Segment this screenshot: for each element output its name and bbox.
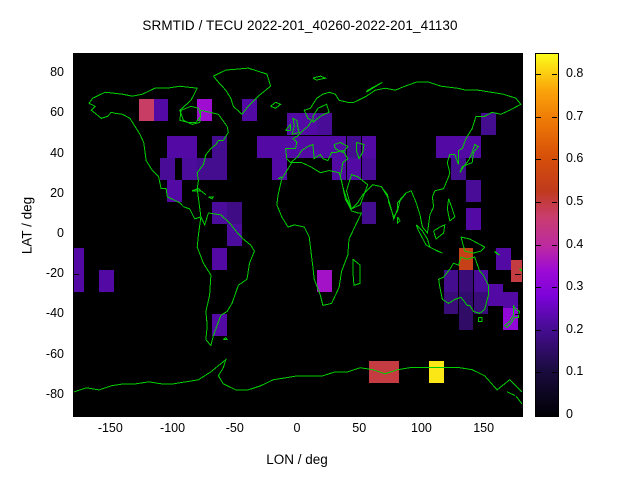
colorbar-tick-label: 0.1 bbox=[566, 364, 583, 378]
x-axis-tick-top bbox=[359, 53, 360, 59]
map-plot-area bbox=[73, 53, 523, 417]
coastline-path bbox=[313, 104, 329, 122]
y-tick-label: -40 bbox=[14, 306, 64, 320]
coastline-overlay bbox=[74, 54, 522, 416]
x-tick-label: -150 bbox=[80, 421, 140, 435]
colorbar-tick-label: 0.7 bbox=[566, 109, 583, 123]
x-axis-tick-top bbox=[297, 53, 298, 59]
colorbar-tick-inner bbox=[536, 372, 541, 373]
y-tick-label: 80 bbox=[14, 65, 64, 79]
colorbar-tick-label: 0.2 bbox=[566, 322, 583, 336]
colorbar-tick bbox=[552, 245, 557, 246]
coastline-path bbox=[286, 124, 291, 130]
heatmap-canvas bbox=[74, 54, 522, 416]
colorbar-tick-inner bbox=[536, 117, 541, 118]
plot-figure: SRMTID / TECU 2022-201_40260-2022-201_41… bbox=[0, 0, 640, 480]
colorbar-tick bbox=[552, 372, 557, 373]
x-axis-tick-top bbox=[235, 53, 236, 59]
colorbar-gradient bbox=[536, 54, 558, 416]
colorbar-tick-label: 0 bbox=[566, 407, 573, 421]
y-tick-label: 60 bbox=[14, 105, 64, 119]
x-axis-tick-top bbox=[421, 53, 422, 59]
coastline-path bbox=[334, 143, 348, 153]
y-axis-tick-right bbox=[515, 274, 521, 275]
x-axis-tick bbox=[110, 409, 111, 415]
coastline-path bbox=[520, 269, 523, 271]
y-axis-tick-right bbox=[515, 355, 521, 356]
colorbar-tick-inner bbox=[536, 287, 541, 288]
coastline-path bbox=[197, 213, 254, 346]
coastline-path bbox=[74, 360, 522, 392]
colorbar-tick-label: 0.3 bbox=[566, 279, 583, 293]
y-tick-label: -80 bbox=[14, 387, 64, 401]
colorbar-tick-label: 0.4 bbox=[566, 237, 583, 251]
x-tick-label: 50 bbox=[329, 421, 389, 435]
x-axis-tick bbox=[235, 409, 236, 415]
colorbar bbox=[535, 53, 559, 417]
y-axis-tick bbox=[73, 314, 79, 315]
coastline-path bbox=[353, 259, 360, 285]
coastline-path bbox=[223, 338, 227, 340]
y-axis-tick bbox=[73, 395, 79, 396]
y-axis-tick bbox=[73, 355, 79, 356]
x-axis-tick-top bbox=[110, 53, 111, 59]
y-axis-tick-right bbox=[515, 314, 521, 315]
x-axis-tick-top bbox=[173, 53, 174, 59]
x-axis-tick bbox=[484, 409, 485, 415]
y-axis-tick-right bbox=[515, 73, 521, 74]
colorbar-tick bbox=[552, 74, 557, 75]
colorbar-tick-inner bbox=[536, 330, 541, 331]
coastline-path bbox=[416, 225, 442, 253]
colorbar-tick bbox=[552, 202, 557, 203]
coastline-path bbox=[357, 143, 365, 159]
x-tick-label: 0 bbox=[267, 421, 327, 435]
coastline-path bbox=[286, 82, 521, 233]
y-tick-label: -60 bbox=[14, 347, 64, 361]
y-axis-tick bbox=[73, 154, 79, 155]
coastline-path bbox=[478, 318, 482, 322]
y-axis-tick-right bbox=[515, 154, 521, 155]
y-axis-tick-right bbox=[515, 113, 521, 114]
coastline-path bbox=[505, 305, 520, 327]
coastline-path bbox=[434, 225, 445, 239]
y-axis-tick bbox=[73, 274, 79, 275]
coastline-path bbox=[192, 189, 206, 195]
coastline-path bbox=[292, 118, 299, 134]
colorbar-tick bbox=[552, 287, 557, 288]
coastline-path bbox=[271, 102, 281, 108]
colorbar-tick-inner bbox=[536, 245, 541, 246]
colorbar-tick bbox=[552, 415, 557, 416]
coastline-path bbox=[461, 237, 485, 253]
colorbar-tick-label: 0.5 bbox=[566, 194, 583, 208]
y-axis-label: LAT / deg bbox=[20, 166, 35, 286]
x-tick-label: -50 bbox=[205, 421, 265, 435]
coastline-path bbox=[313, 76, 326, 80]
colorbar-tick-inner bbox=[536, 159, 541, 160]
y-tick-label: 40 bbox=[14, 146, 64, 160]
plot-title: SRMTID / TECU 2022-201_40260-2022-201_41… bbox=[0, 18, 600, 33]
colorbar-tick-inner bbox=[536, 74, 541, 75]
y-axis-tick bbox=[73, 113, 79, 114]
y-axis-tick-right bbox=[515, 395, 521, 396]
coastline-path bbox=[507, 392, 522, 404]
coastline-path bbox=[89, 86, 228, 217]
y-axis-tick bbox=[73, 194, 79, 195]
x-axis-tick bbox=[359, 409, 360, 415]
colorbar-tick-label: 0.8 bbox=[566, 66, 583, 80]
colorbar-tick bbox=[552, 159, 557, 160]
colorbar-tick-inner bbox=[536, 202, 541, 203]
coastline-path bbox=[213, 68, 270, 114]
x-axis-label: LON / deg bbox=[73, 452, 521, 467]
y-axis-tick bbox=[73, 73, 79, 74]
y-axis-tick-right bbox=[515, 194, 521, 195]
coastline-path bbox=[495, 251, 500, 255]
colorbar-tick-inner bbox=[536, 415, 541, 416]
coastline-path bbox=[278, 177, 282, 179]
colorbar-tick-label: 0.6 bbox=[566, 151, 583, 165]
coastline-path bbox=[208, 197, 213, 199]
coastline-path bbox=[398, 217, 400, 223]
coastline-path bbox=[439, 257, 489, 313]
x-tick-label: 150 bbox=[454, 421, 514, 435]
x-axis-tick bbox=[297, 409, 298, 415]
y-axis-tick-right bbox=[515, 234, 521, 235]
colorbar-tick bbox=[552, 330, 557, 331]
y-axis-tick bbox=[73, 234, 79, 235]
x-axis-tick bbox=[421, 409, 422, 415]
coastline-path bbox=[447, 199, 455, 221]
x-tick-label: -100 bbox=[143, 421, 203, 435]
x-axis-tick-top bbox=[484, 53, 485, 59]
x-axis-tick bbox=[173, 409, 174, 415]
x-tick-label: 100 bbox=[391, 421, 451, 435]
colorbar-tick bbox=[552, 117, 557, 118]
